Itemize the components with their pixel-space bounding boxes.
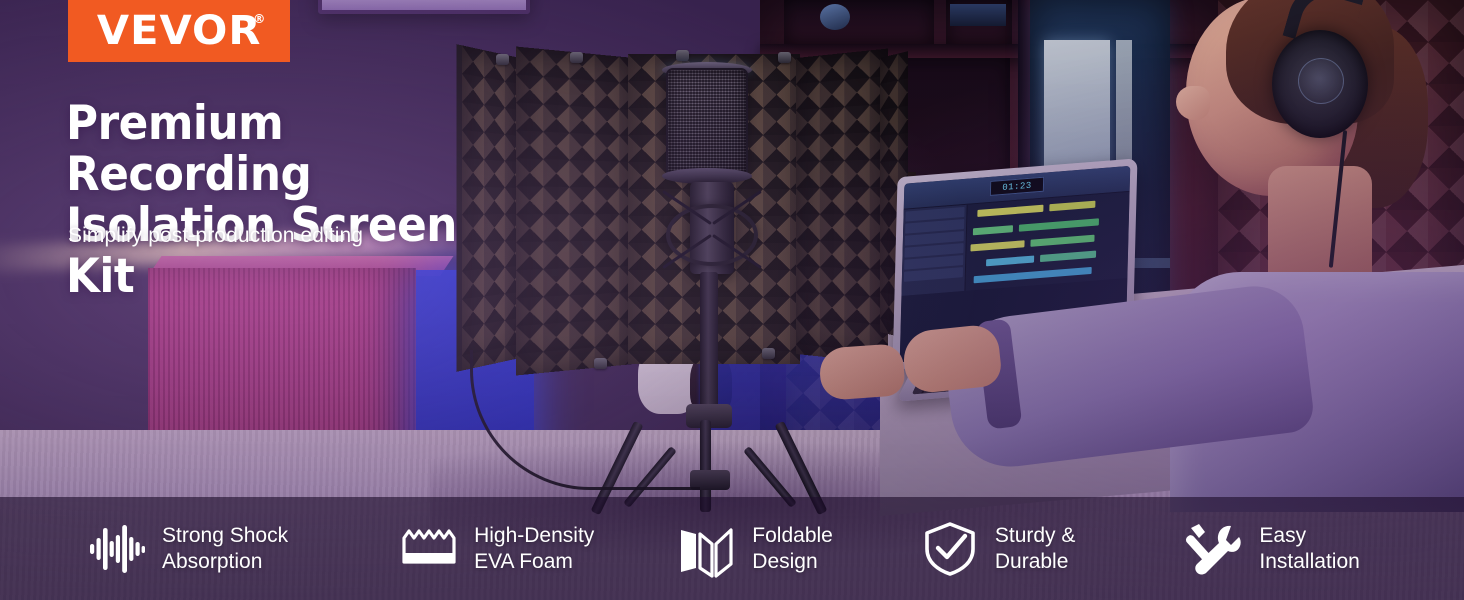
daw-audio-clip [1030, 235, 1094, 247]
right-hand [901, 323, 1003, 395]
daw-audio-clip [973, 225, 1013, 235]
feature-item-foldable-design: Foldable Design [678, 520, 833, 578]
shield-bolt [570, 52, 583, 63]
headline-line-1: Premium Recording [66, 96, 311, 202]
feature-label: Strong Shock Absorption [162, 523, 288, 575]
page-title: Premium Recording Isolation Screen Kit [66, 98, 503, 302]
shield-bolt [496, 54, 509, 65]
headphone-brand-logo-icon [1298, 58, 1344, 104]
daw-track-row [904, 267, 963, 282]
mic-stand-pole [700, 272, 718, 414]
shelf-decor-orb [820, 4, 850, 30]
person-audio-engineer [1140, 0, 1464, 510]
shelf-compartment-left [784, 0, 934, 44]
headphone-ear-cup [1272, 30, 1368, 138]
page-subtitle: Simplify post-production editing [68, 224, 363, 248]
nose [1176, 86, 1210, 120]
daw-time-display: 01:23 [990, 177, 1044, 196]
headline-line-2: Isolation Screen Kit [66, 200, 503, 302]
feature-label: Foldable Design [752, 523, 833, 575]
microphone-shock-mount [654, 186, 770, 282]
shield-bolt [762, 348, 775, 359]
daw-audio-clip [970, 240, 1024, 251]
feature-bar: Strong Shock Absorption High-Density EVA… [0, 497, 1464, 600]
tools-wrench-screwdriver-icon [1185, 520, 1243, 578]
feature-item-eva-foam: High-Density EVA Foam [400, 520, 594, 578]
product-banner: 01:23 [0, 0, 1464, 600]
foldable-panels-icon [678, 520, 736, 578]
shield-wing-right [796, 49, 888, 364]
daw-audio-clip [1040, 251, 1096, 262]
vevor-logo: VEVOR ® [68, 0, 290, 62]
feature-item-shock-absorption: Strong Shock Absorption [88, 520, 288, 578]
registered-trademark-icon: ® [253, 12, 306, 26]
feature-item-sturdy-durable: Sturdy & Durable [921, 520, 1076, 578]
wall-picture-frame [318, 0, 530, 14]
feature-label: Easy Installation [1259, 523, 1359, 575]
daw-audio-clip [986, 255, 1034, 266]
shield-bolt [778, 52, 791, 63]
feature-item-easy-installation: Easy Installation [1185, 520, 1359, 578]
shield-check-icon [921, 520, 979, 578]
shield-wing-left [516, 47, 634, 376]
shield-bolt [676, 50, 689, 61]
daw-audio-clip [1049, 201, 1095, 212]
audio-waveform-icon [88, 520, 146, 578]
daw-track-list [901, 205, 967, 296]
left-hand [818, 343, 905, 401]
eva-foam-icon [400, 520, 458, 578]
daw-audio-clip [1019, 218, 1099, 231]
vevor-logo-text: VEVOR [97, 8, 262, 54]
shelf-decor-box [950, 4, 1006, 26]
pop-filter [666, 68, 748, 178]
daw-audio-clip [977, 205, 1043, 217]
daw-audio-clip [974, 267, 1092, 283]
feature-label: Sturdy & Durable [995, 523, 1076, 575]
feature-label: High-Density EVA Foam [474, 523, 594, 575]
